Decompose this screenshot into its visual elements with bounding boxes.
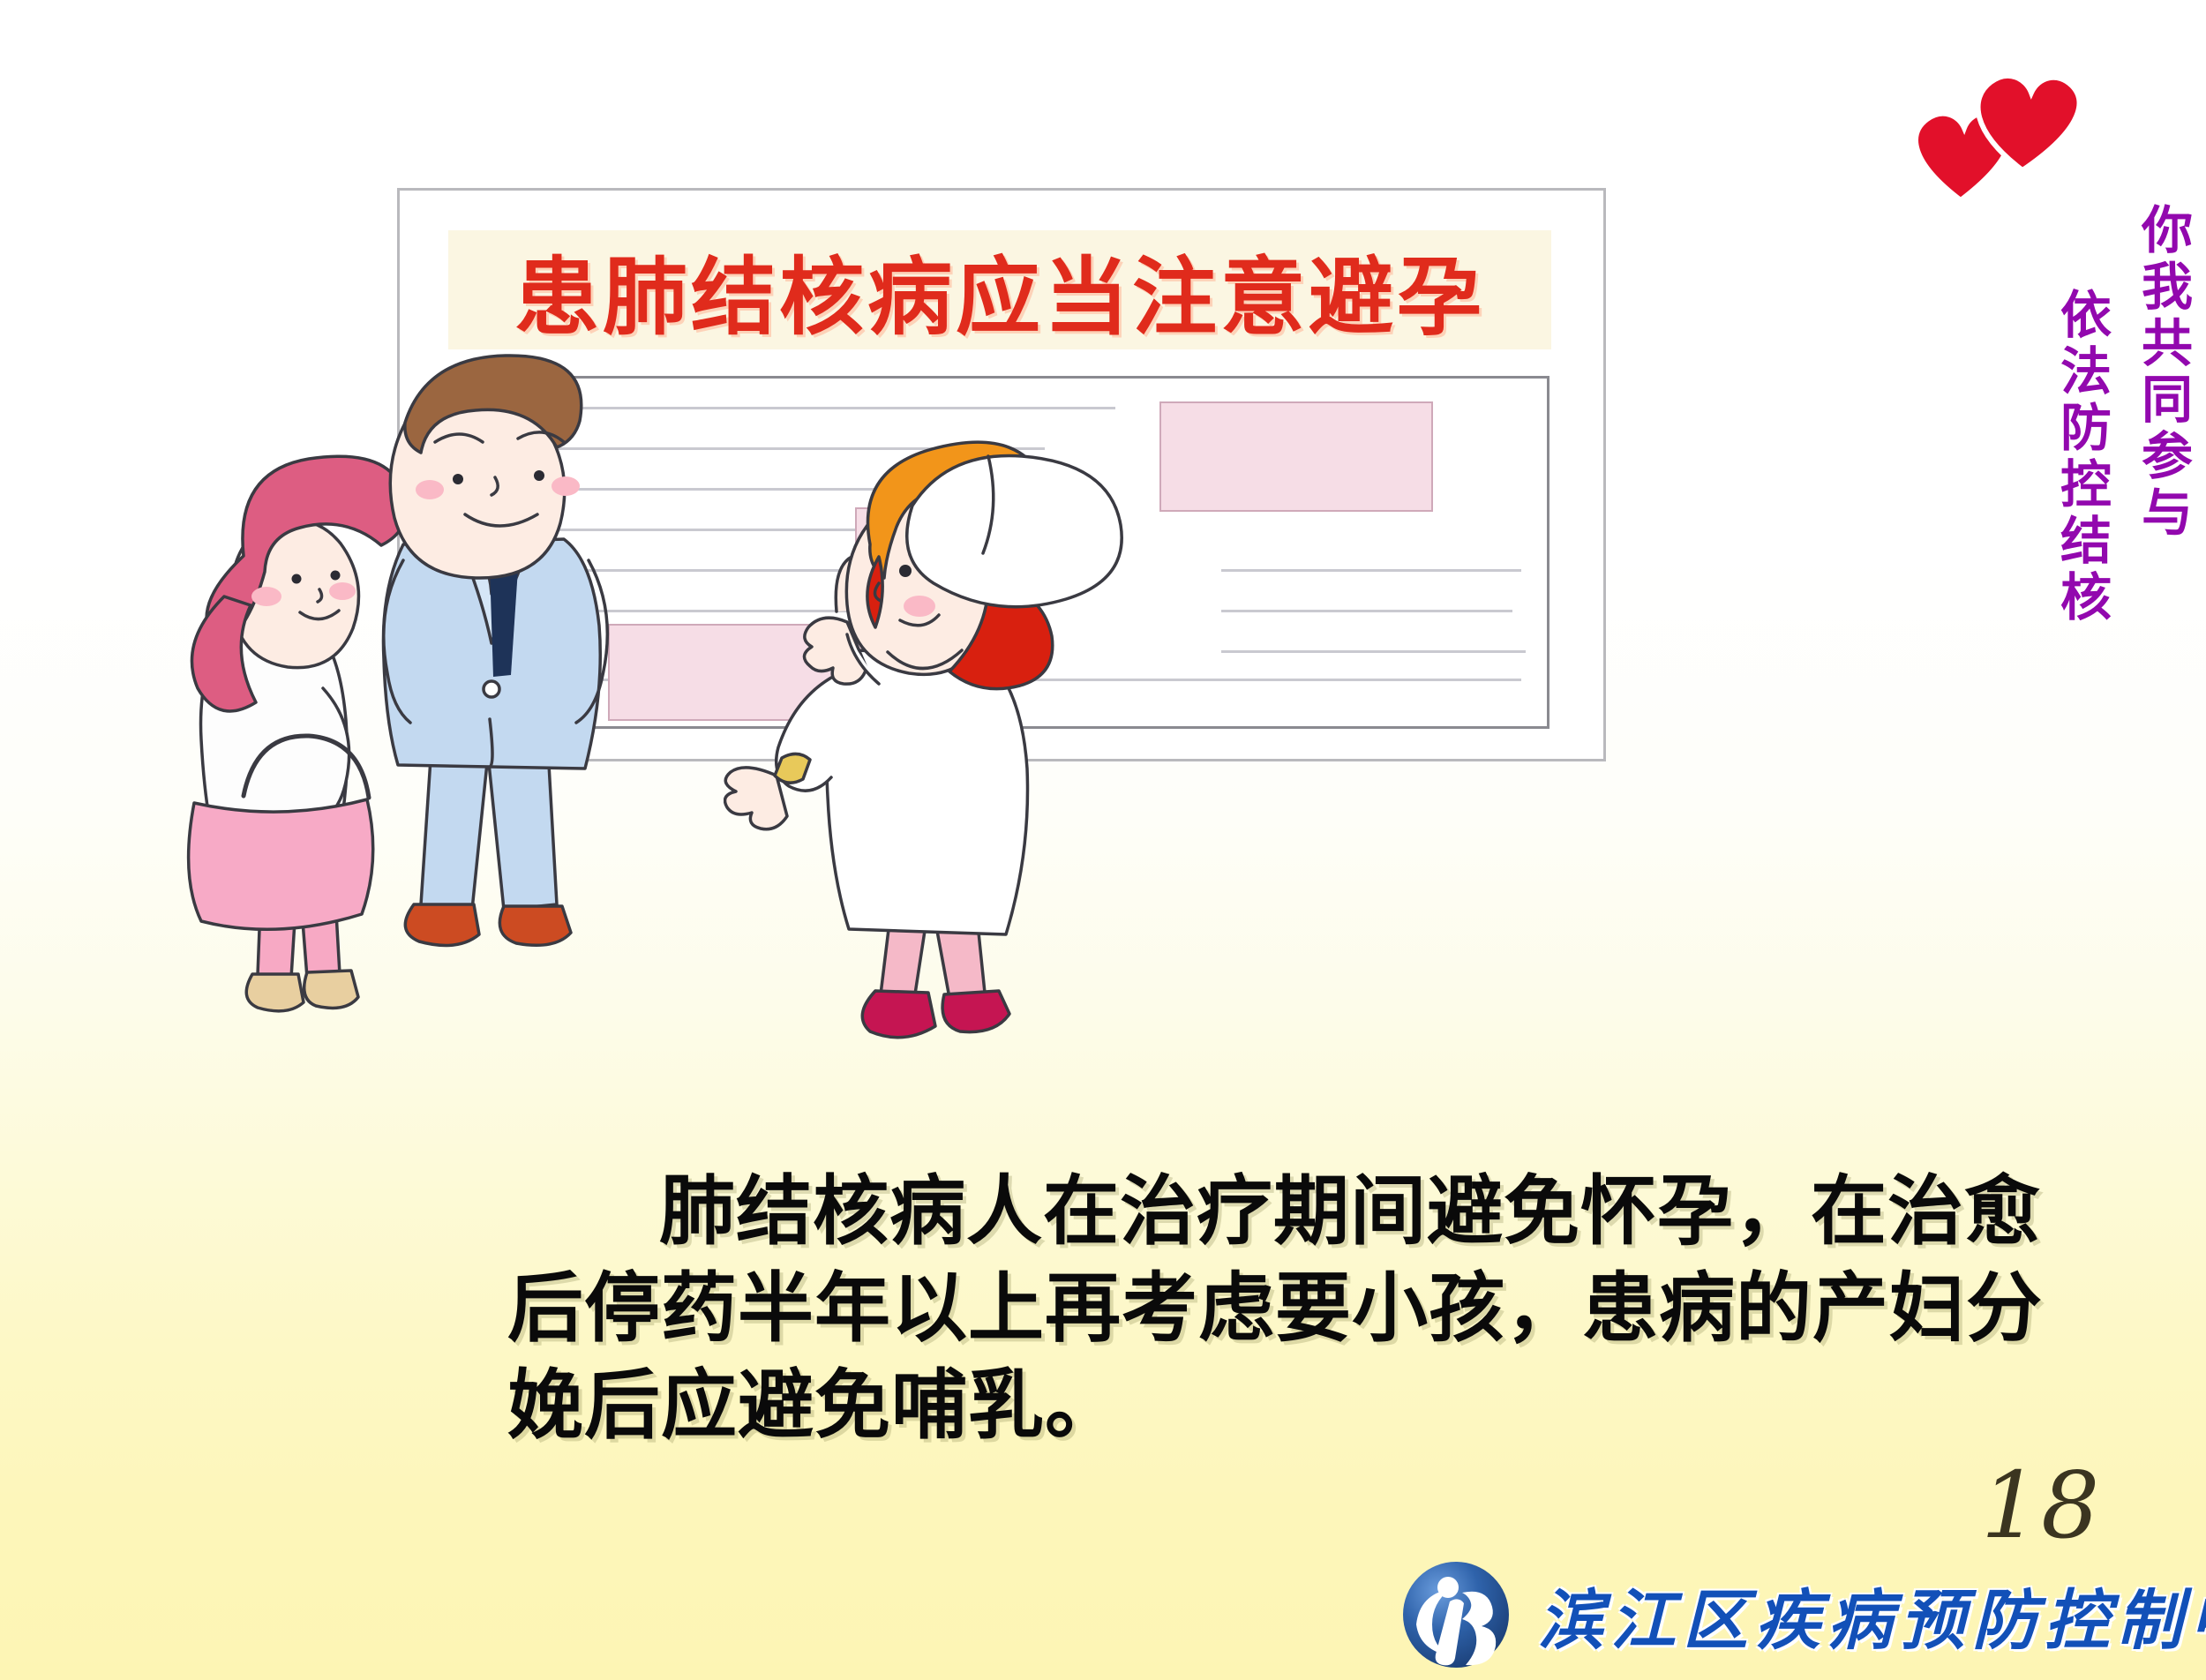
poster-accent-block (1159, 401, 1433, 512)
slide-canvas: 患肺结核病应当注意避孕 (0, 0, 2206, 1680)
slogan-line-1: 你我共同参与 (2137, 203, 2188, 926)
body-line-3: 娩后应避免哺乳。 (507, 1357, 2007, 1454)
body-line-2: 后停药半年以上再考虑要小孩，患病的产妇分 (507, 1260, 2007, 1357)
illustration: 患肺结核病应当注意避孕 (159, 172, 1465, 1143)
hearts-decoration (1906, 49, 2082, 203)
body-line-1: 肺结核病人在治疗期间避免怀孕，在治愈 (507, 1163, 2007, 1260)
poster-text-line (1221, 569, 1521, 572)
poster-text-line (1221, 610, 1512, 612)
doctor-figure (724, 401, 1147, 1081)
footer-bar: 滨江区疾病预防控制中心 (1399, 1553, 2175, 1676)
vertical-slogan: 你我共同参与 依法防控结核 (1968, 203, 2188, 926)
poster-title: 患肺结核病应当注意避孕 (448, 230, 1551, 349)
page-number: 18 (1981, 1451, 2101, 1559)
organization-name: 滨江区疾病预防控制中心 (1538, 1568, 2206, 1662)
slogan-line-2: 依法防控结核 (2056, 288, 2107, 926)
poster-title-band: 患肺结核病应当注意避孕 (448, 230, 1551, 349)
body-text: 肺结核病人在治疗期间避免怀孕，在治愈 后停药半年以上再考虑要小孩，患病的产妇分 … (507, 1163, 2007, 1454)
man-patient-figure (349, 340, 657, 993)
poster-text-line (1221, 650, 1526, 653)
cdc-logo-icon (1399, 1557, 1513, 1672)
